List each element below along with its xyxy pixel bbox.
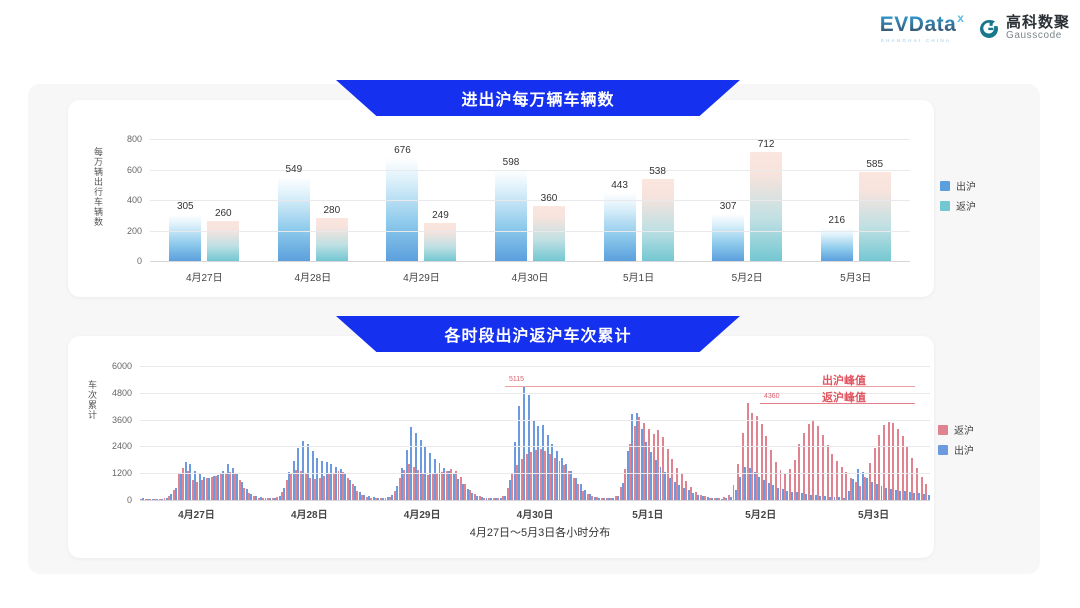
x-tick-label: 4月28日 (291, 506, 328, 521)
bar-出沪 (604, 193, 636, 261)
brand-logos: EVData x SHANGHAI CHINA 高科数聚 Gausscode (880, 14, 1070, 43)
bar-value-label: 249 (417, 210, 463, 221)
bar-出沪 (712, 214, 744, 261)
bar-返沪 (316, 218, 348, 261)
legend-label: 出沪 (956, 178, 976, 193)
hour-bar-返沪 (817, 426, 819, 500)
bar-出沪 (495, 170, 527, 261)
legend-label: 出沪 (954, 442, 974, 457)
x-tick-label: 5月2日 (732, 269, 763, 284)
x-tick-label: 5月1日 (632, 506, 663, 521)
x-tick-label: 5月3日 (840, 269, 871, 284)
bar-返沪 (859, 172, 891, 261)
peak-value-label: 5115 (509, 376, 524, 383)
bar-value-label: 598 (488, 157, 534, 168)
x-tick-label: 4月30日 (517, 506, 554, 521)
bar-value-label: 549 (271, 164, 317, 175)
x-tick-label: 4月27日 (178, 506, 215, 521)
bar-value-label: 307 (705, 201, 751, 212)
y-tick-label: 0 (108, 256, 142, 266)
peak-annotation-text: 出沪峰值 (822, 372, 866, 388)
evdata-wordmark: EVData (880, 14, 957, 35)
hour-bar-返沪 (812, 421, 814, 500)
bar-出沪 (821, 228, 853, 261)
bar-value-label: 676 (379, 145, 425, 156)
hour-bar-返沪 (841, 467, 843, 501)
gausscode-cn-name: 高科数聚 (1006, 15, 1070, 31)
x-tick-label: 4月28日 (295, 269, 332, 284)
x-tick-label: 4月29日 (403, 269, 440, 284)
bar-value-label: 538 (635, 166, 681, 177)
gridline (140, 393, 930, 394)
chart-title-text: 进出沪每万辆车辆数 (461, 86, 614, 110)
y-tick-label: 600 (108, 165, 142, 175)
evdata-tagline: SHANGHAI CHINA (881, 38, 951, 43)
gausscode-en-name: Gausscode (1006, 31, 1070, 42)
bar-value-label: 260 (200, 208, 246, 219)
x-tick-label: 5月1日 (623, 269, 654, 284)
bar-返沪 (207, 221, 239, 261)
y-tick-label: 2400 (98, 441, 132, 451)
gridline (150, 139, 910, 140)
chart-title-text: 各时段出沪返沪车次累计 (444, 322, 631, 346)
gridline (150, 231, 910, 232)
hour-bar-pair (925, 366, 930, 500)
bar-出沪 (169, 215, 201, 262)
bar-返沪 (424, 223, 456, 261)
gridline (150, 170, 910, 171)
evdata-logo: EVData x SHANGHAI CHINA (880, 14, 964, 43)
hour-bar-返沪 (808, 424, 810, 500)
bar-value-label: 280 (309, 205, 355, 216)
legend-item-出沪[interactable]: 出沪 (938, 442, 974, 457)
hour-bar-返沪 (897, 429, 899, 500)
gridline (140, 366, 930, 367)
hour-bar-返沪 (822, 435, 824, 500)
gausscode-logo: 高科数聚 Gausscode (978, 15, 1070, 41)
y-axis-label-vehicles: 每万辆出行车辆数 (92, 147, 105, 263)
gridline (140, 500, 930, 501)
y-tick-label: 3600 (98, 415, 132, 425)
bar-value-label: 712 (743, 139, 789, 150)
x-tick-label: 5月2日 (745, 506, 776, 521)
evdata-x-icon: x (957, 11, 964, 25)
peak-annotation-text: 返沪峰值 (822, 389, 866, 405)
gridline (150, 261, 910, 262)
bar-返沪 (533, 206, 565, 261)
bar-value-label: 585 (852, 159, 898, 170)
bar-value-label: 360 (526, 193, 572, 204)
legend-swatch-icon (938, 445, 948, 455)
bar-返沪 (642, 179, 674, 261)
y-tick-label: 800 (108, 134, 142, 144)
gridline (140, 473, 930, 474)
x-tick-label: 4月30日 (512, 269, 549, 284)
y-tick-label: 0 (98, 495, 132, 505)
bar-value-label: 216 (814, 215, 860, 226)
chart-title-banner-vehicles: 进出沪每万辆车辆数 (336, 80, 740, 116)
legend-item-返沪[interactable]: 返沪 (940, 198, 976, 213)
bar-value-label: 443 (597, 180, 643, 191)
x-tick-label: 4月27日 (186, 269, 223, 284)
peak-value-label: 4360 (764, 393, 780, 400)
legend-swatch-icon (940, 201, 950, 211)
legend-hourly: 返沪出沪 (938, 422, 974, 462)
legend-swatch-icon (940, 181, 950, 191)
legend-item-出沪[interactable]: 出沪 (940, 178, 976, 193)
hour-bar-返沪 (831, 454, 833, 500)
legend-vehicles: 出沪返沪 (940, 178, 976, 218)
x-tick-label: 4月29日 (404, 506, 441, 521)
y-tick-label: 200 (108, 226, 142, 236)
hour-bar-返沪 (892, 423, 894, 500)
legend-item-返沪[interactable]: 返沪 (938, 422, 974, 437)
y-tick-label: 1200 (98, 468, 132, 478)
gausscode-g-icon (978, 18, 1000, 40)
x-tick-label: 5月3日 (858, 506, 889, 521)
hour-bar-返沪 (798, 444, 800, 500)
y-tick-label: 4800 (98, 388, 132, 398)
bar-出沪 (278, 177, 310, 261)
legend-label: 返沪 (954, 422, 974, 437)
hour-bar-返沪 (803, 433, 805, 500)
y-tick-label: 6000 (98, 361, 132, 371)
y-tick-label: 400 (108, 195, 142, 205)
hour-bar-返沪 (836, 461, 838, 500)
bar-出沪 (386, 158, 418, 261)
gridline (140, 446, 930, 447)
legend-swatch-icon (938, 425, 948, 435)
gridline (140, 420, 930, 421)
slide-root: EVData x SHANGHAI CHINA 高科数聚 Gausscode 进… (0, 0, 1080, 608)
chart-title-banner-hourly: 各时段出沪返沪车次累计 (336, 316, 740, 352)
legend-label: 返沪 (956, 198, 976, 213)
x-axis-caption-hourly: 4月27日～5月3日各小时分布 (0, 524, 1080, 540)
